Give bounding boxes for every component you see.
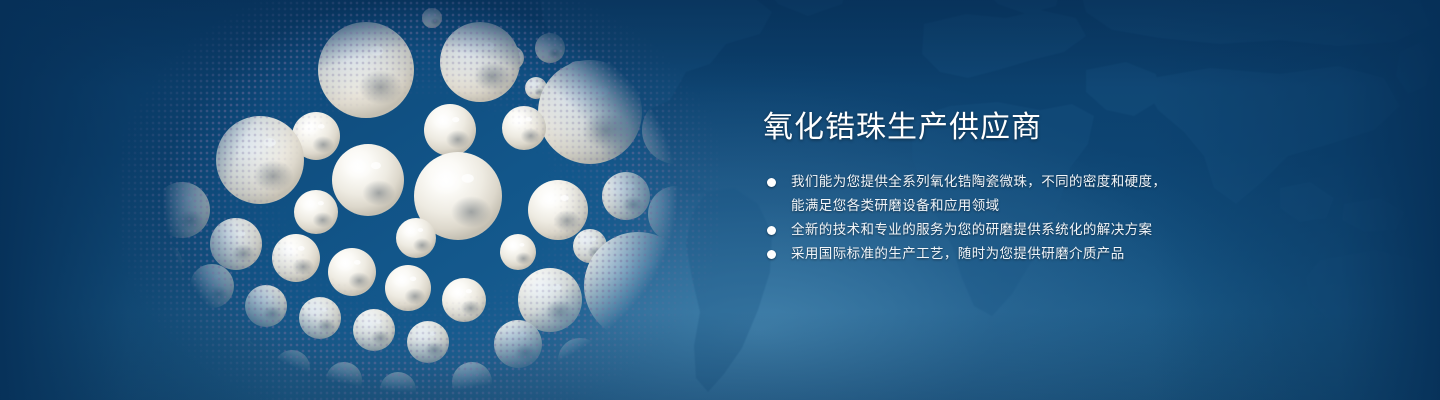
page-title: 氧化锆珠生产供应商 [763, 108, 1233, 148]
bullet-dot-icon [767, 226, 776, 235]
list-item-line1: 全新的技术和专业的服务为您的研磨提供系统化的解决方案 [791, 222, 1152, 237]
bullet-dot-icon [767, 178, 776, 187]
list-item-line2: 能满足您各类研磨设备和应用领域 [791, 194, 1233, 218]
hero-banner: 氧化锆珠生产供应商 我们能为您提供全系列氧化锆陶瓷微珠，不同的密度和硬度， 能满… [0, 0, 1440, 400]
list-item: 全新的技术和专业的服务为您的研磨提供系统化的解决方案 [763, 218, 1233, 242]
list-item-line1: 我们能为您提供全系列氧化锆陶瓷微珠，不同的密度和硬度， [791, 174, 1166, 189]
list-item: 我们能为您提供全系列氧化锆陶瓷微珠，不同的密度和硬度， 能满足您各类研磨设备和应… [763, 170, 1233, 218]
banner-copy: 氧化锆珠生产供应商 我们能为您提供全系列氧化锆陶瓷微珠，不同的密度和硬度， 能满… [763, 108, 1233, 266]
bullet-dot-icon [767, 250, 776, 259]
zirconia-beads-photo [120, 0, 720, 400]
list-item-line1: 采用国际标准的生产工艺，随时为您提供研磨介质产品 [791, 246, 1125, 261]
list-item: 采用国际标准的生产工艺，随时为您提供研磨介质产品 [763, 242, 1233, 266]
feature-list: 我们能为您提供全系列氧化锆陶瓷微珠，不同的密度和硬度， 能满足您各类研磨设备和应… [763, 170, 1233, 266]
